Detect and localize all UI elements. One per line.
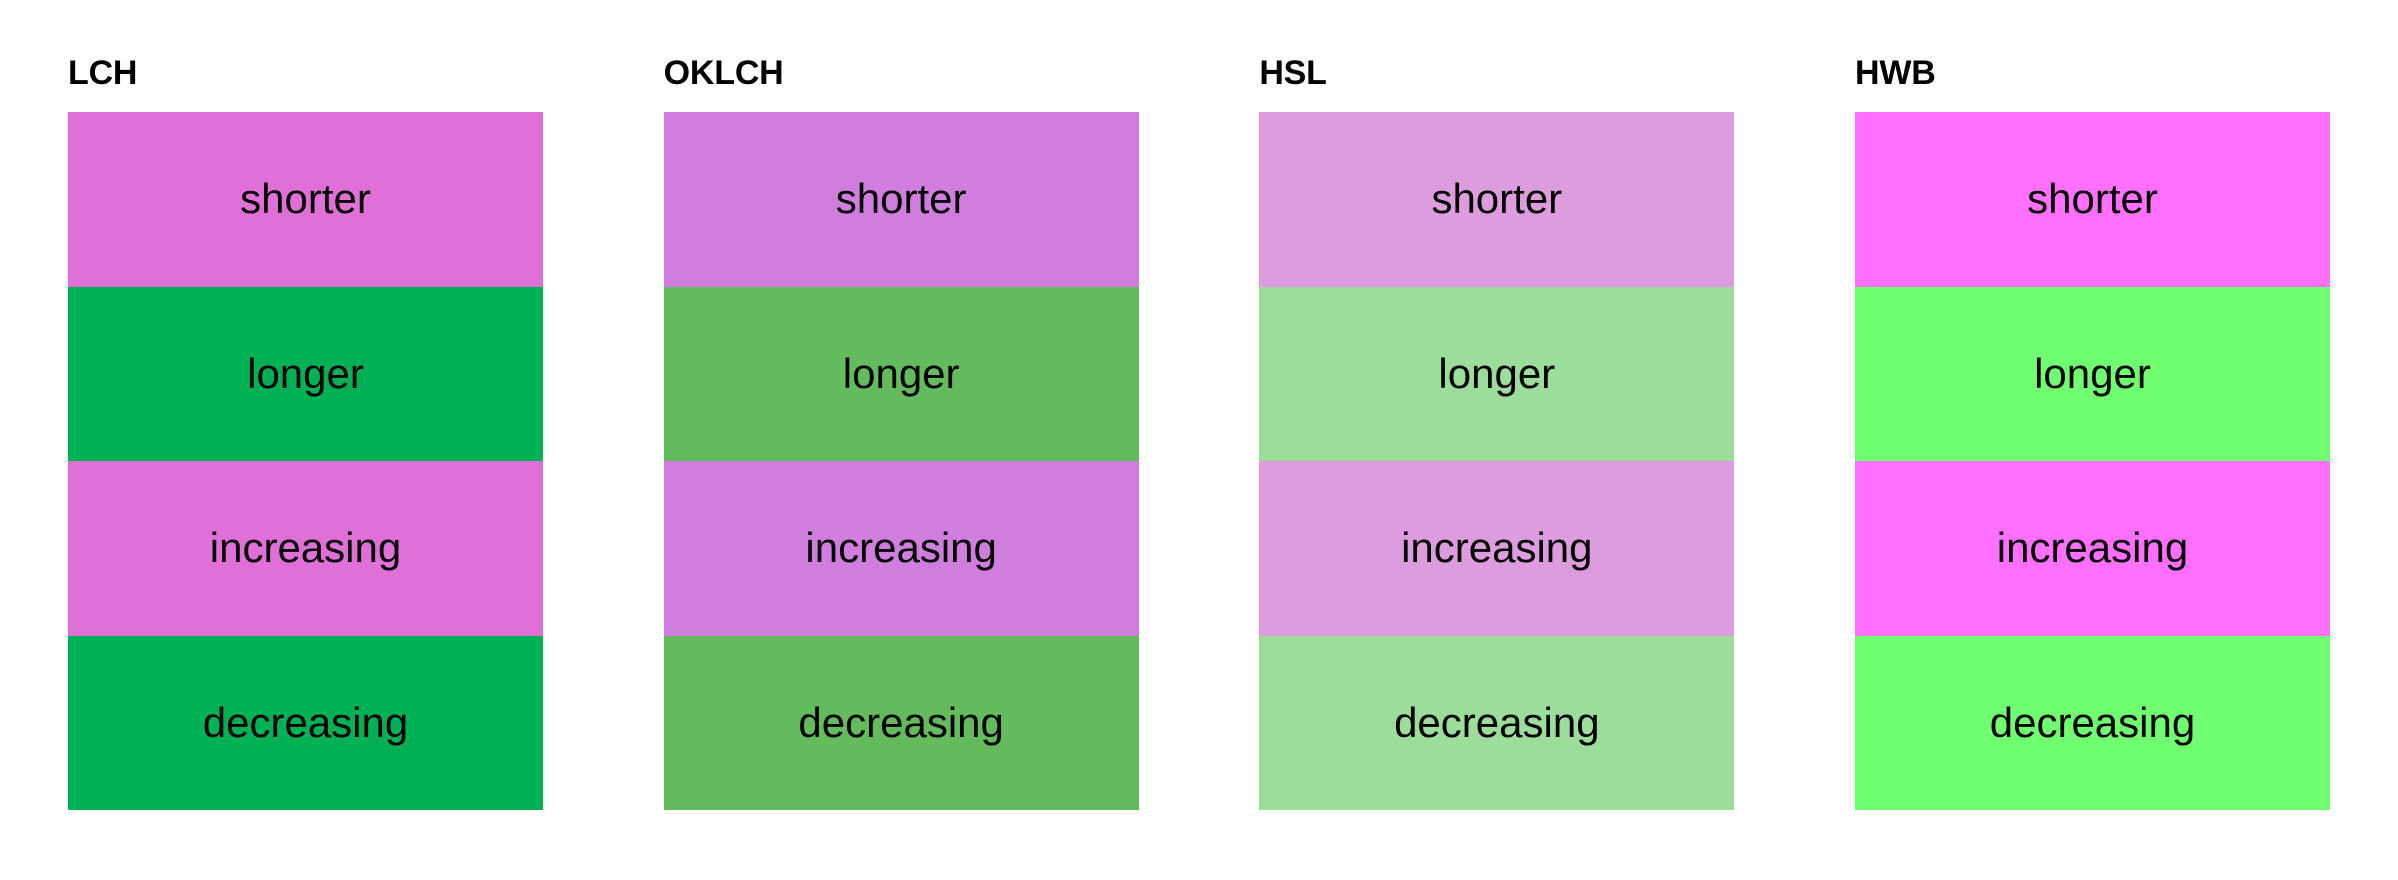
swatch-label: increasing	[805, 527, 996, 569]
swatch-label: increasing	[1997, 527, 2188, 569]
swatch-label: longer	[247, 353, 364, 395]
swatch-label: shorter	[240, 178, 371, 220]
swatch-label: decreasing	[798, 702, 1003, 744]
swatch-lch-shorter[interactable]: shorter	[68, 112, 543, 287]
swatch-oklch-increasing[interactable]: increasing	[664, 461, 1139, 636]
swatch-hsl-longer[interactable]: longer	[1259, 287, 1734, 462]
swatch-label: decreasing	[1394, 702, 1599, 744]
swatch-oklch-decreasing[interactable]: decreasing	[664, 636, 1139, 811]
column-title-hsl: HSL	[1259, 56, 1734, 90]
swatch-label: decreasing	[203, 702, 408, 744]
swatch-lch-increasing[interactable]: increasing	[68, 461, 543, 636]
swatch-label: longer	[843, 353, 960, 395]
swatch-hwb-increasing[interactable]: increasing	[1855, 461, 2330, 636]
swatch-hwb-shorter[interactable]: shorter	[1855, 112, 2330, 287]
swatch-label: shorter	[1431, 178, 1562, 220]
swatch-label: increasing	[210, 527, 401, 569]
swatch-hwb-longer[interactable]: longer	[1855, 287, 2330, 462]
color-column-hsl: HSL shorter longer increasing decreasing	[1259, 56, 1734, 810]
swatch-stack-lch: shorter longer increasing decreasing	[68, 112, 543, 810]
swatch-hsl-increasing[interactable]: increasing	[1259, 461, 1734, 636]
color-column-oklch: OKLCH shorter longer increasing decreasi…	[664, 56, 1139, 810]
swatch-stack-hsl: shorter longer increasing decreasing	[1259, 112, 1734, 810]
swatch-label: shorter	[2027, 178, 2158, 220]
color-column-hwb: HWB shorter longer increasing decreasing	[1855, 56, 2330, 810]
swatch-oklch-shorter[interactable]: shorter	[664, 112, 1139, 287]
swatch-label: longer	[1438, 353, 1555, 395]
swatch-label: increasing	[1401, 527, 1592, 569]
swatch-hsl-shorter[interactable]: shorter	[1259, 112, 1734, 287]
column-title-lch: LCH	[68, 56, 543, 90]
column-title-hwb: HWB	[1855, 56, 2330, 90]
color-column-lch: LCH shorter longer increasing decreasing	[68, 56, 543, 810]
swatch-label: longer	[2034, 353, 2151, 395]
swatch-hsl-decreasing[interactable]: decreasing	[1259, 636, 1734, 811]
swatch-oklch-longer[interactable]: longer	[664, 287, 1139, 462]
color-interpolation-comparison: LCH shorter longer increasing decreasing…	[0, 0, 2398, 880]
column-group: LCH shorter longer increasing decreasing…	[68, 56, 2330, 810]
swatch-hwb-decreasing[interactable]: decreasing	[1855, 636, 2330, 811]
swatch-label: decreasing	[1990, 702, 2195, 744]
swatch-lch-longer[interactable]: longer	[68, 287, 543, 462]
swatch-stack-oklch: shorter longer increasing decreasing	[664, 112, 1139, 810]
swatch-lch-decreasing[interactable]: decreasing	[68, 636, 543, 811]
swatch-label: shorter	[836, 178, 967, 220]
swatch-stack-hwb: shorter longer increasing decreasing	[1855, 112, 2330, 810]
column-title-oklch: OKLCH	[664, 56, 1139, 90]
